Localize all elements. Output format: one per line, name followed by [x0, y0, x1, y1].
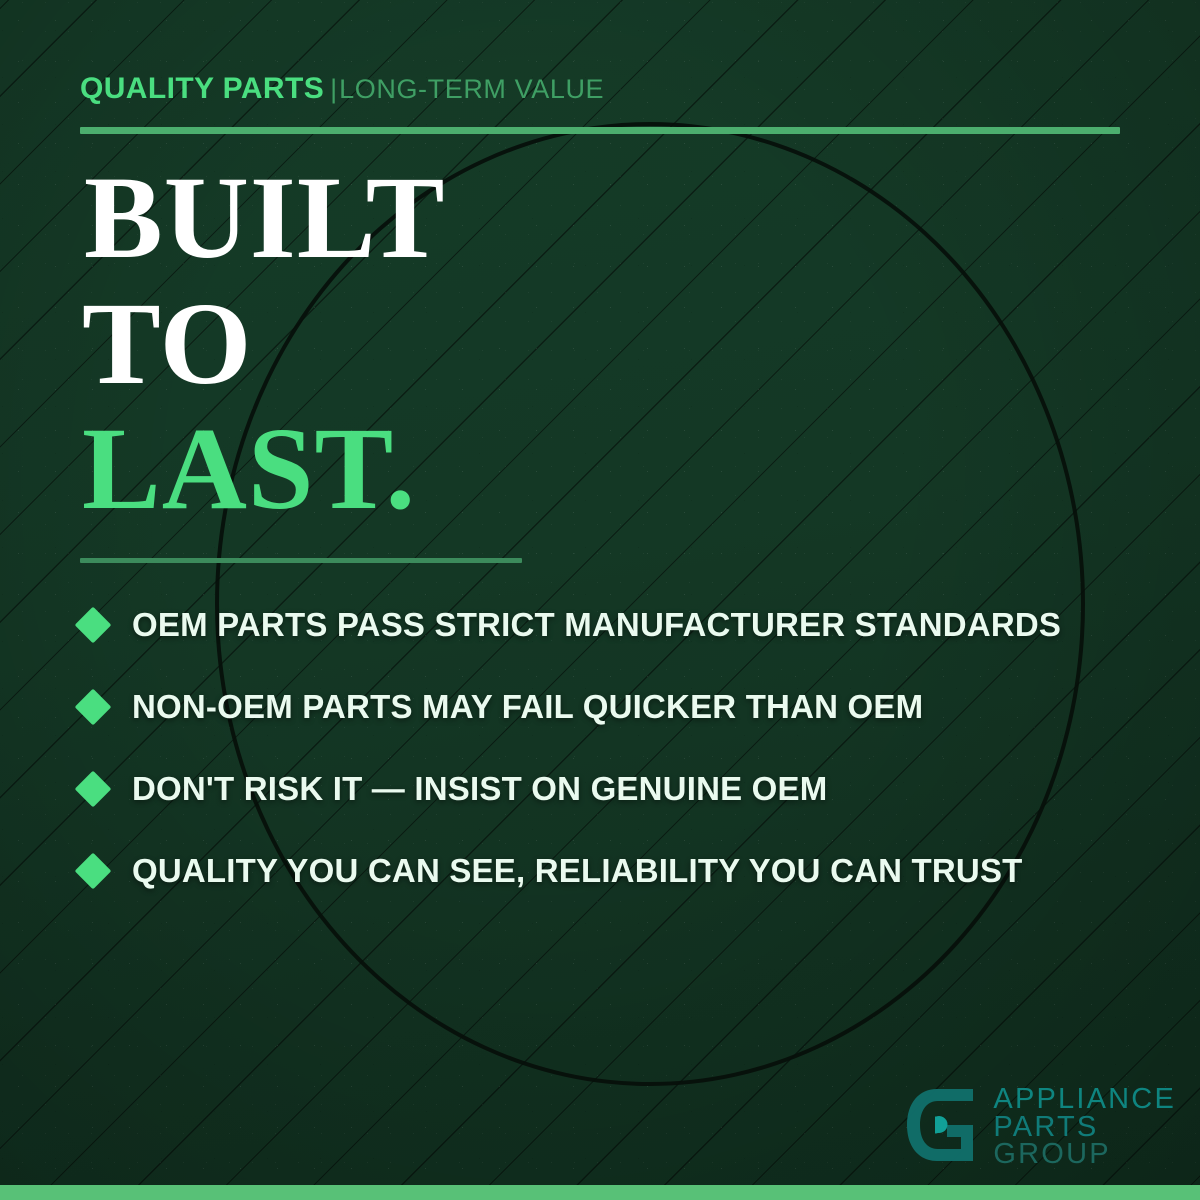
eyebrow-separator: |: [330, 74, 337, 104]
g-monogram-icon: [903, 1085, 981, 1170]
bottom-accent-bar: [0, 1185, 1200, 1200]
brand-word-appliance: APPLIANCE: [993, 1086, 1176, 1114]
diamond-bullet-icon: [75, 689, 112, 726]
poster-canvas: QUALITY PARTS|LONG-TERM VALUE BUILT TO L…: [0, 0, 1200, 1200]
list-item-label: QUALITY YOU CAN SEE, RELIABILITY YOU CAN…: [132, 852, 1023, 890]
headline-line-1: BUILT: [84, 160, 445, 276]
brand-word-parts: PARTS: [993, 1114, 1176, 1142]
list-item: QUALITY YOU CAN SEE, RELIABILITY YOU CAN…: [80, 830, 1140, 912]
header-divider-rule: [80, 127, 1120, 134]
brand-word-group: GROUP: [993, 1141, 1176, 1169]
eyebrow-subtitle: LONG-TERM VALUE: [339, 74, 604, 104]
list-item-label: NON-OEM PARTS MAY FAIL QUICKER THAN OEM: [132, 688, 923, 726]
benefit-list: OEM PARTS PASS STRICT MANUFACTURER STAND…: [80, 584, 1140, 912]
list-item: DON'T RISK IT — INSIST ON GENUINE OEM: [80, 748, 1140, 830]
diamond-bullet-icon: [75, 771, 112, 808]
brand-logo-wordmark: APPLIANCE PARTS GROUP: [993, 1086, 1176, 1169]
diamond-bullet-icon: [75, 607, 112, 644]
brand-logo: APPLIANCE PARTS GROUP: [903, 1085, 1176, 1170]
list-item-label: DON'T RISK IT — INSIST ON GENUINE OEM: [132, 770, 827, 808]
diamond-bullet-icon: [75, 853, 112, 890]
eyebrow: QUALITY PARTS|LONG-TERM VALUE: [80, 74, 604, 104]
list-item: OEM PARTS PASS STRICT MANUFACTURER STAND…: [80, 584, 1140, 666]
eyebrow-kicker: QUALITY PARTS: [80, 72, 324, 105]
list-item-label: OEM PARTS PASS STRICT MANUFACTURER STAND…: [132, 606, 1061, 644]
page-title: BUILT TO LAST.: [82, 160, 445, 527]
headline-line-2: TO: [82, 286, 445, 402]
headline-line-3: LAST.: [82, 411, 445, 527]
headline-divider-rule: [80, 558, 522, 563]
poster-content: QUALITY PARTS|LONG-TERM VALUE BUILT TO L…: [0, 0, 1200, 1200]
list-item: NON-OEM PARTS MAY FAIL QUICKER THAN OEM: [80, 666, 1140, 748]
